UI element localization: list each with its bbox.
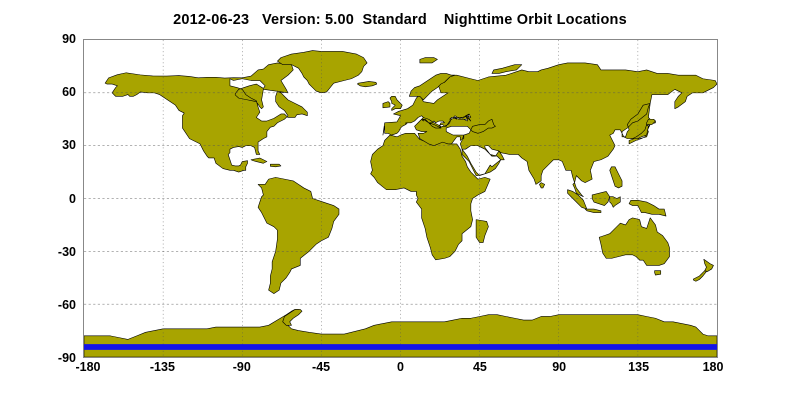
landmass-new-guinea (629, 200, 666, 216)
y-tick-label-m60: -60 (58, 298, 76, 312)
orbit-track-layer (84, 345, 717, 348)
x-tick-label-180: 180 (703, 360, 724, 374)
landmass-africa (371, 133, 491, 259)
world-map-svg (84, 40, 717, 357)
landmass-sri-lanka (539, 183, 544, 188)
y-tick-label-60: 60 (62, 85, 76, 99)
x-tick-label-m135: -135 (150, 360, 175, 374)
landmass-south-america (258, 177, 339, 293)
landmass-cuba (251, 158, 267, 163)
landmass-hispaniola (270, 164, 281, 167)
y-tick-label-m30: -30 (58, 245, 76, 259)
x-tick-label-90: 90 (552, 360, 566, 374)
landmass-new-zealand-s (693, 271, 706, 282)
landmass-tasmania (655, 271, 661, 275)
landmass-antarctic-peninsula (283, 309, 302, 325)
y-tick-label-m90: -90 (58, 351, 76, 365)
landmass-new-zealand-n (704, 259, 714, 271)
orbit-map-figure: 2012-06-23 Version: 5.00 Standard Nightt… (0, 0, 800, 400)
x-tick-label-45: 45 (473, 360, 487, 374)
landmass-svalbard (420, 58, 438, 63)
landmass-philippines (610, 167, 622, 188)
landmass-madagascar (476, 220, 488, 243)
page-title: 2012-06-23 Version: 5.00 Standard Nightt… (0, 12, 800, 28)
y-tick-label-0: 0 (69, 192, 76, 206)
x-tick-label-m45: -45 (312, 360, 330, 374)
landmass-north-america (105, 63, 307, 172)
x-tick-label-m90: -90 (233, 360, 251, 374)
y-tick-label-90: 90 (62, 32, 76, 46)
x-tick-label-135: 135 (628, 360, 649, 374)
map-plot-area[interactable] (83, 39, 718, 358)
y-tick-label-30: 30 (62, 138, 76, 152)
landmass-iceland (357, 81, 376, 86)
x-tick-label-m180: -180 (75, 360, 100, 374)
landmass-japan-hokkaido (647, 119, 656, 124)
landmass-ireland (383, 102, 390, 108)
landmass-java (585, 209, 601, 213)
x-tick-label-0: 0 (397, 360, 404, 374)
landmass-australia (599, 218, 669, 266)
